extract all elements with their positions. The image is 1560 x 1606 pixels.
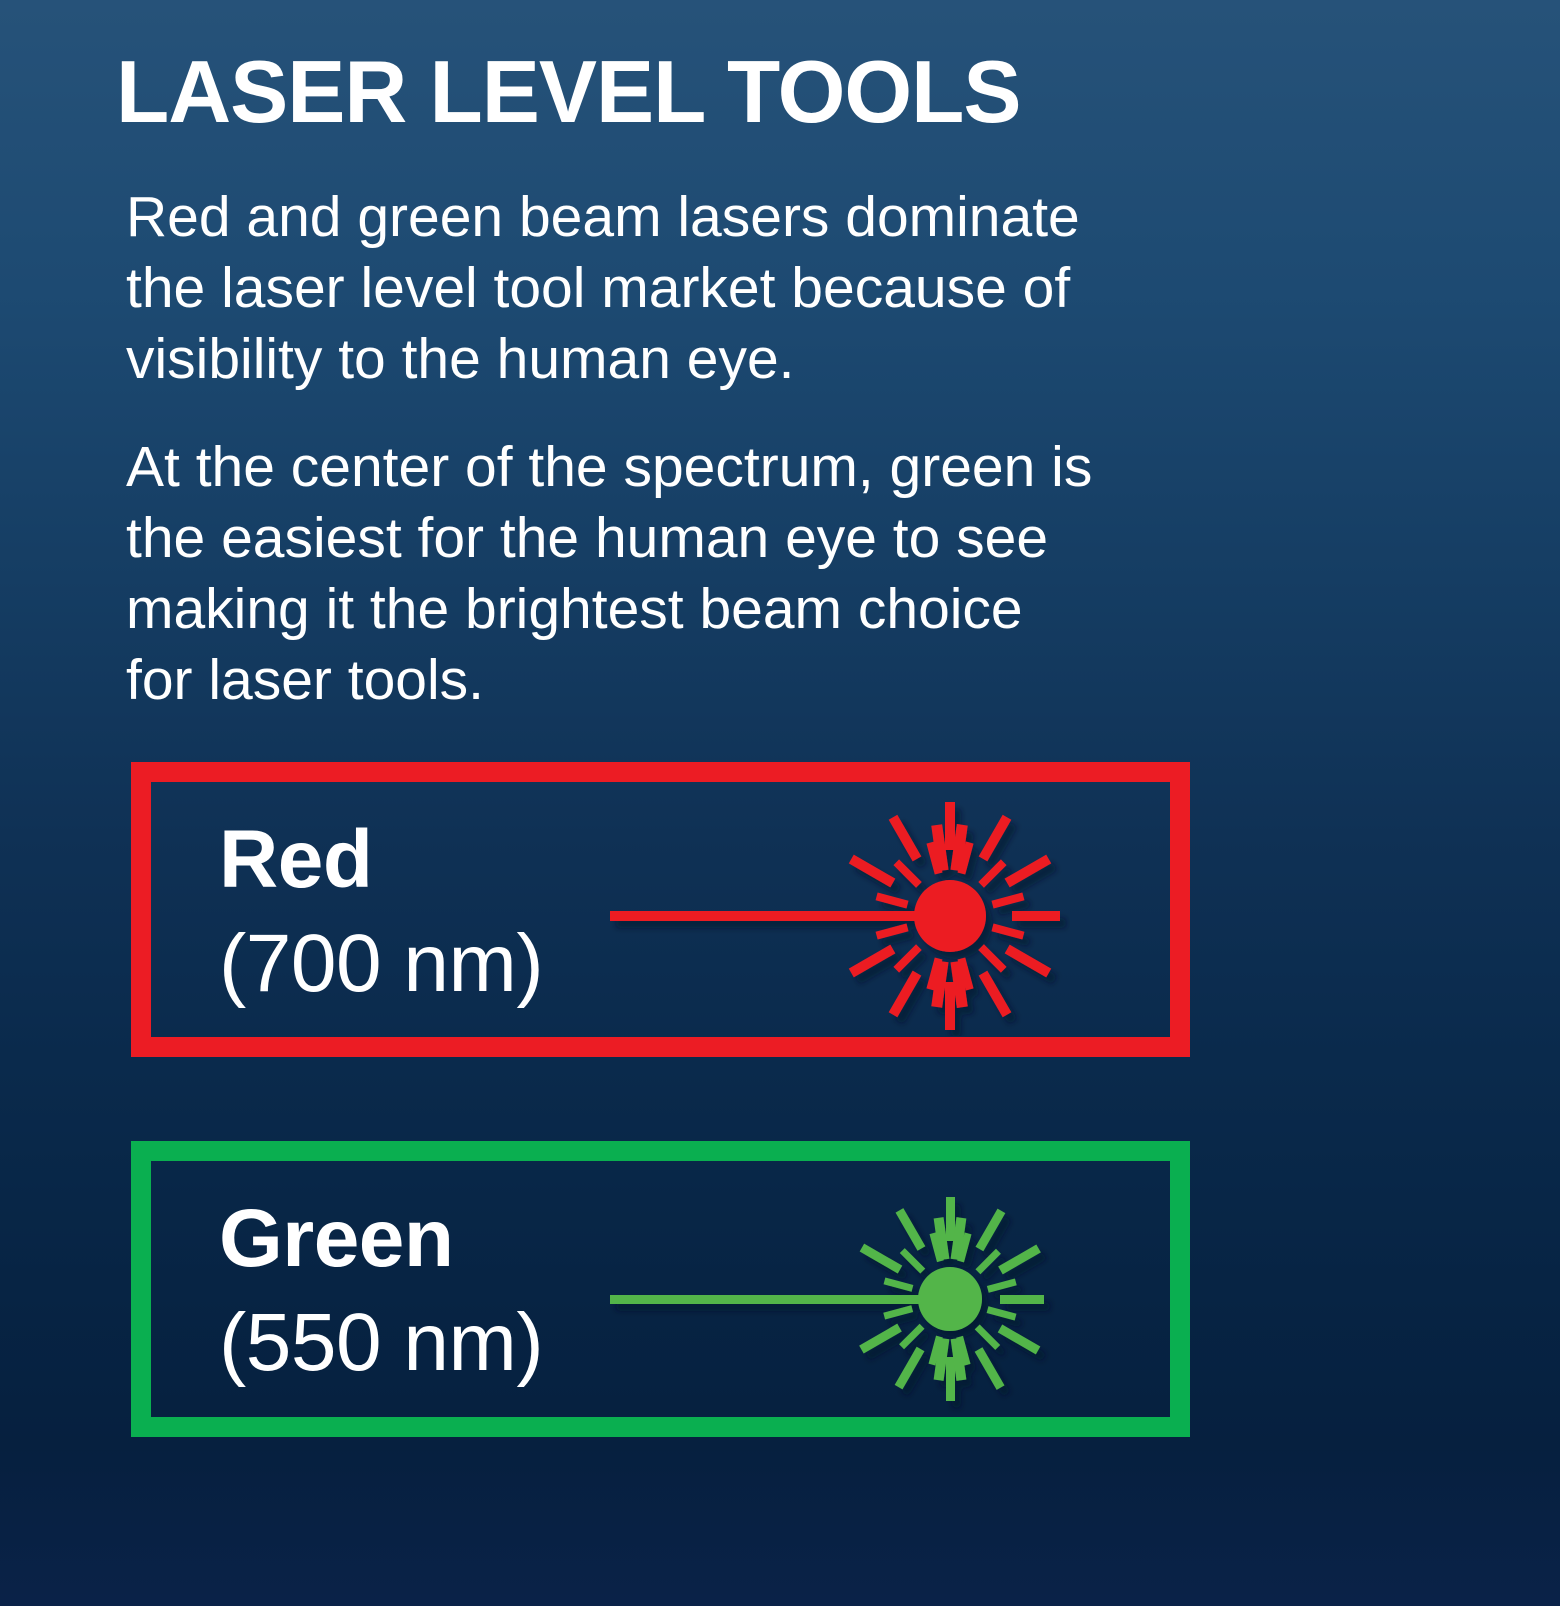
intro-paragraph-2-line-4: for laser tools. — [126, 645, 1306, 716]
laser-band-green-graphic — [610, 1161, 1170, 1417]
intro-paragraph-1-line-2: the laser level tool market because of — [126, 253, 1306, 324]
laser-burst-icon — [610, 796, 1070, 1036]
intro-paragraph-1-line-1: Red and green beam lasers dominate — [126, 182, 1306, 253]
laser-band-green: Green (550 nm) — [131, 1141, 1190, 1437]
intro-paragraph-2-line-1: At the center of the spectrum, green is — [126, 432, 1306, 503]
intro-paragraph-2-line-2: the easiest for the human eye to see — [126, 503, 1306, 574]
laser-level-tools-infographic: LASER LEVEL TOOLS Red and green beam las… — [0, 0, 1560, 1606]
intro-paragraph-2-line-3: making it the brightest beam choice — [126, 574, 1306, 645]
laser-band-red-name: Red — [219, 808, 543, 912]
laser-band-green-label: Green (550 nm) — [219, 1187, 543, 1395]
intro-paragraph-1: Red and green beam lasers dominate the l… — [126, 182, 1306, 395]
laser-burst-icon — [610, 1179, 1070, 1419]
page-title: LASER LEVEL TOOLS — [116, 46, 1021, 138]
intro-paragraph-1-line-3: visibility to the human eye. — [126, 324, 1306, 395]
laser-band-green-wavelength: (550 nm) — [219, 1291, 543, 1395]
laser-band-green-name: Green — [219, 1187, 543, 1291]
laser-band-red-wavelength: (700 nm) — [219, 912, 543, 1016]
laser-band-red-label: Red (700 nm) — [219, 808, 543, 1016]
laser-band-red: Red (700 nm) — [131, 762, 1190, 1057]
intro-paragraph-2: At the center of the spectrum, green is … — [126, 432, 1306, 716]
laser-band-red-graphic — [610, 782, 1170, 1037]
